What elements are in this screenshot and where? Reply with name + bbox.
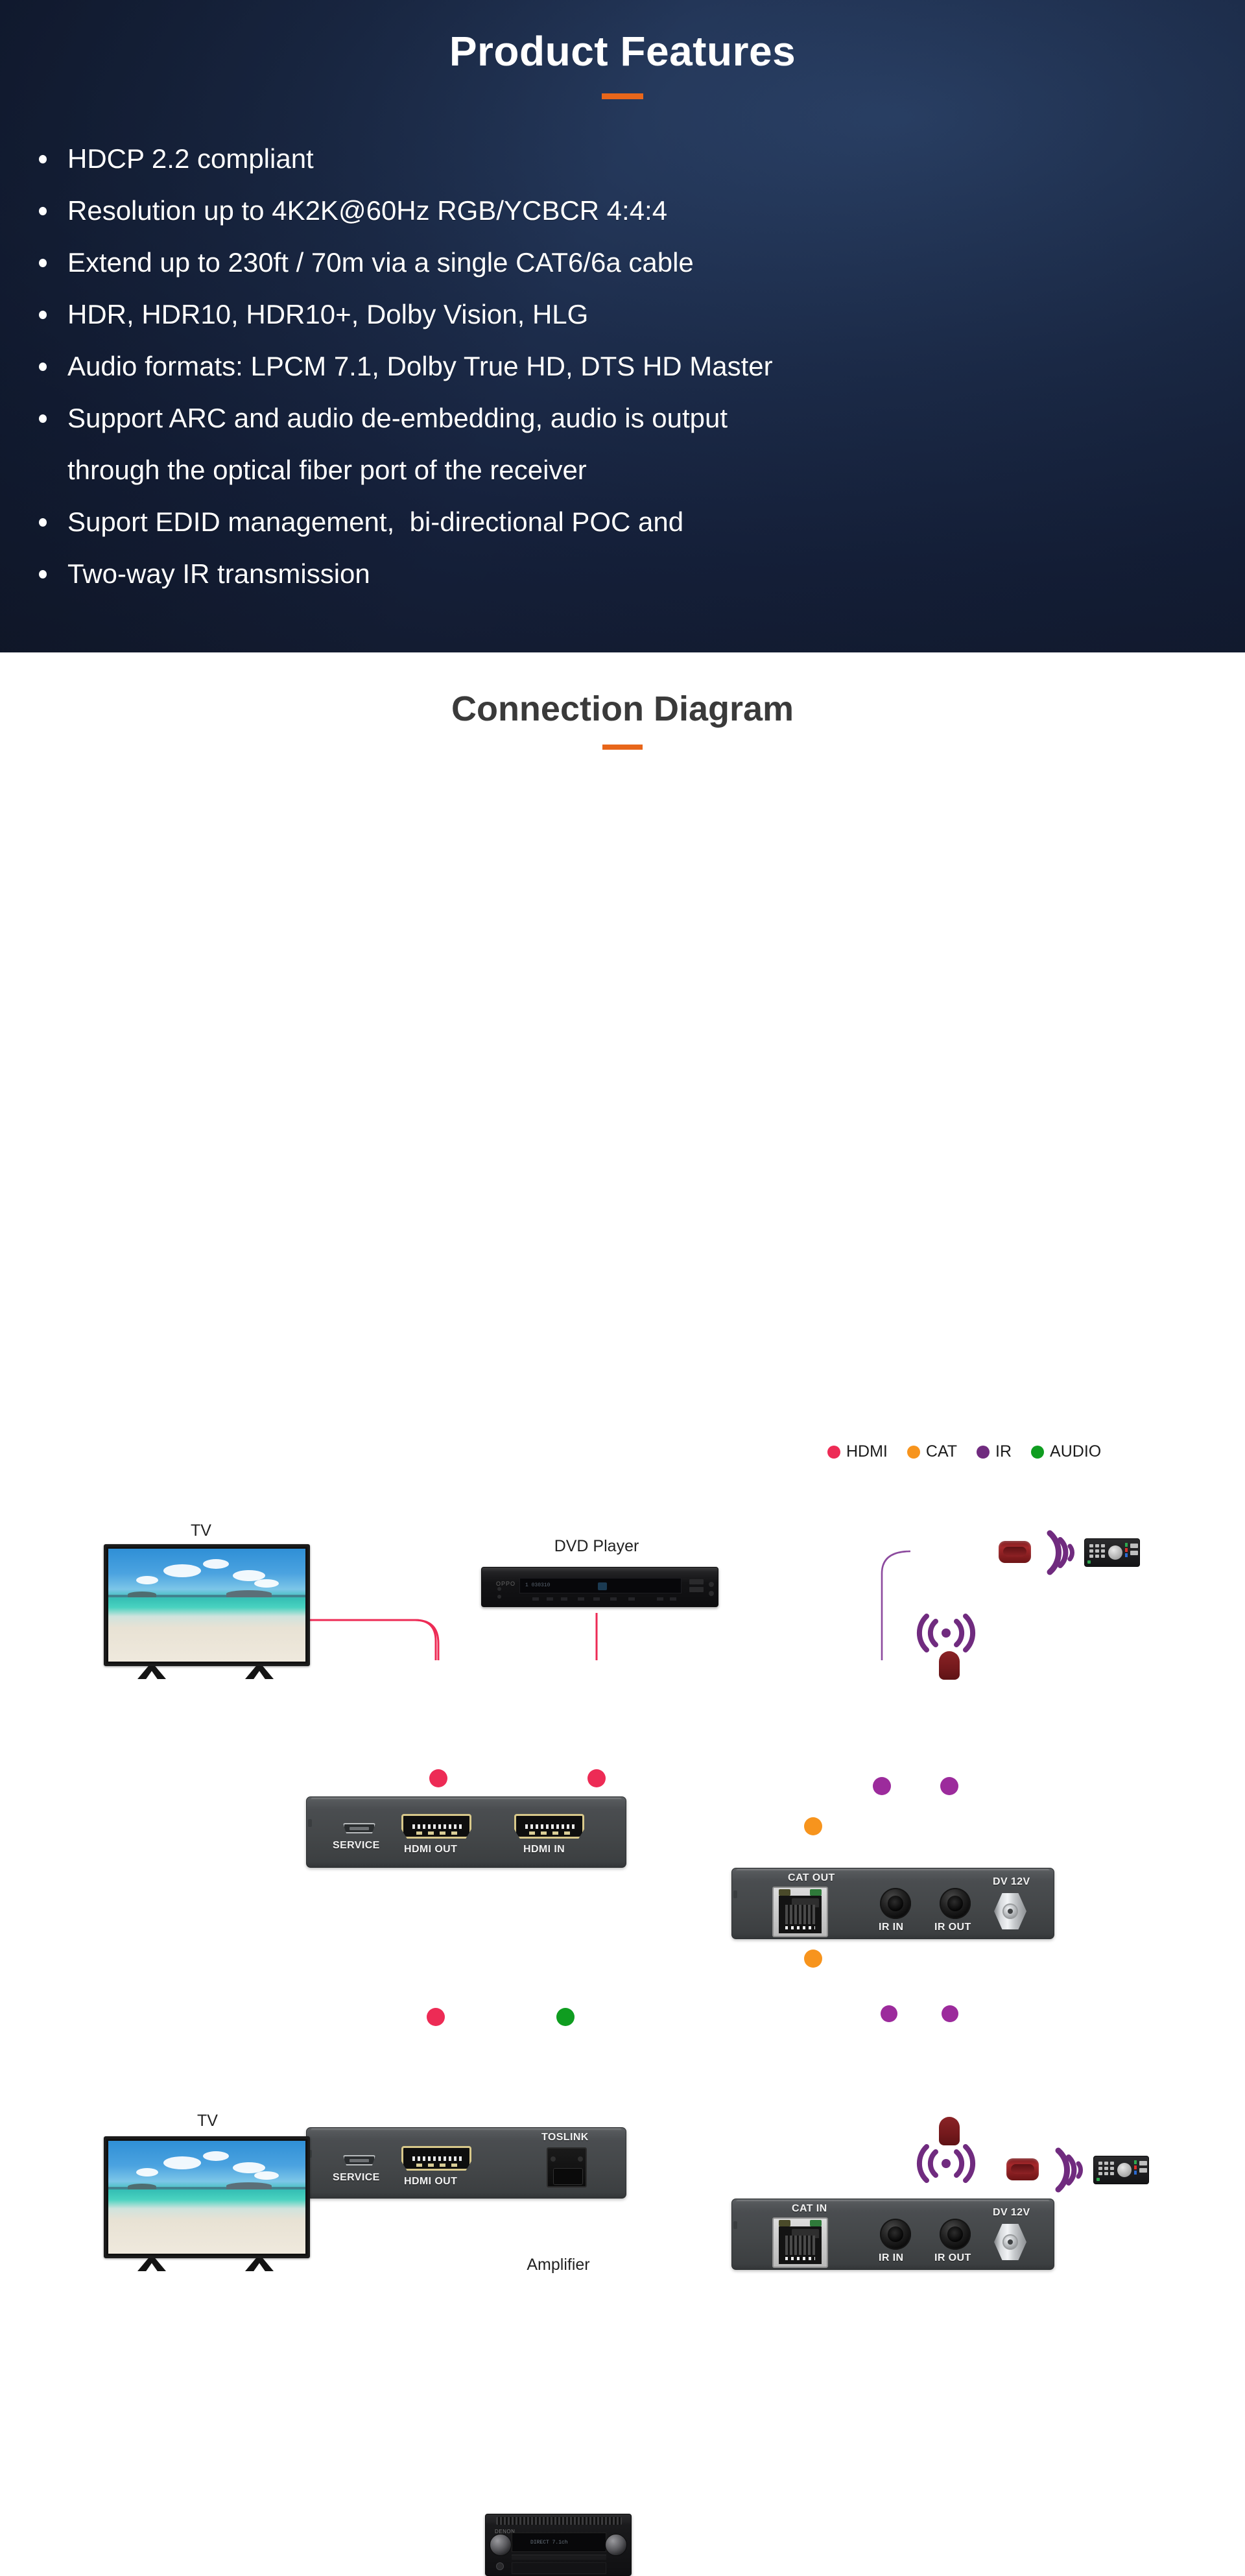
ir-emitter-lens [1003, 1547, 1026, 1556]
transmitter-rear-panel: CAT OUT IR IN IR OUT DV 12V [731, 1868, 1054, 1939]
port-label-hdmi-out: HDMI OUT [404, 2176, 457, 2188]
tv-bottom-label: TV [149, 2112, 266, 2130]
rj45-led-left [779, 2220, 790, 2226]
port-label-ir-out: IR OUT [934, 2252, 971, 2264]
tv-screen-frame [104, 2136, 310, 2258]
hdmi-out-port [401, 1814, 471, 1839]
list-item: HDCP 2.2 compliant [30, 133, 1245, 185]
bullet-icon [39, 414, 47, 423]
remote-dpad-icon [1117, 2163, 1132, 2177]
dvd-player: OPPO 1 030310 [481, 1567, 718, 1607]
amplifier-vents [496, 2517, 622, 2525]
list-item: Extend up to 230ft / 70m via a single CA… [30, 237, 1245, 289]
port-label-hdmi-in: HDMI IN [523, 1844, 565, 1855]
rj45-contacts [785, 1926, 815, 1929]
amplifier-knob-left [490, 2534, 512, 2556]
rj45-pins [785, 2236, 815, 2255]
service-usb-port [343, 2155, 375, 2165]
product-features-panel: Product Features HDCP 2.2 compliant Reso… [0, 0, 1245, 652]
port-label-dv-12v: DV 12V [993, 2207, 1030, 2219]
port-label-cat-out: CAT OUT [788, 1872, 835, 1884]
list-item-continuation: through the optical fiber port of the re… [30, 444, 1245, 496]
rj45-inner [779, 2226, 822, 2264]
ir-wave-icon-bud-bottom [915, 2141, 977, 2182]
connection-dot-cat-in [804, 1950, 822, 1968]
ir-in-jack-hole [888, 2226, 903, 2242]
amplifier-lower-panel [512, 2562, 606, 2574]
dvd-display-text: 1 030310 [525, 1582, 550, 1588]
connection-dot-hdmi-out-tx [429, 1769, 447, 1787]
ir-out-jack-hole [947, 2226, 963, 2242]
dvd-player-label: DVD Player [493, 1537, 700, 1556]
dc-power-jack [994, 1893, 1026, 1929]
hdmi-pins [412, 1824, 463, 1829]
list-item-label: Support ARC and audio de-embedding, audi… [67, 403, 728, 433]
connection-dot-ir-in-tx [873, 1777, 891, 1795]
connection-dot-ir-out-tx [940, 1777, 958, 1795]
hdmi-out-port [401, 2146, 471, 2171]
bullet-icon [39, 518, 47, 527]
tv-screen-frame [104, 1544, 310, 1666]
rj45-inner [779, 1896, 822, 1933]
remote-dpad-icon [1108, 1545, 1122, 1560]
port-label-ir-in: IR IN [879, 1922, 903, 1933]
ir-wave-icon-bottom [1049, 2147, 1088, 2193]
dvd-brand-mark: OPPO [496, 1580, 516, 1587]
transmitter-front-panel: SERVICE HDMI OUT HDMI IN [306, 1796, 626, 1868]
hdmi-pins-lower [529, 1831, 572, 1835]
receiver-rear-panel: CAT IN IR IN IR OUT DV 12V [731, 2199, 1054, 2270]
ir-in-jack [880, 2219, 911, 2250]
page-title: Product Features [0, 0, 1245, 75]
dc-jack-pin [1008, 2239, 1013, 2245]
port-label-cat-in: CAT IN [792, 2203, 827, 2215]
amplifier-label: Amplifier [485, 2256, 632, 2274]
port-label-dv-12v: DV 12V [993, 1876, 1030, 1888]
connection-dot-cat-out [804, 1817, 822, 1835]
ir-in-jack [880, 1888, 911, 1919]
toslink-port [547, 2147, 587, 2188]
amplifier: DENON DIRECT 7.1ch [485, 2514, 632, 2576]
bullet-icon [39, 570, 47, 578]
ir-out-jack-hole [947, 1896, 963, 1911]
list-item: Support ARC and audio de-embedding, audi… [30, 392, 1245, 444]
hdmi-pins-lower [416, 1831, 459, 1835]
usb-port-inner [350, 2159, 369, 2162]
list-item-label: HDR, HDR10, HDR10+, Dolby Vision, HLG [67, 299, 588, 329]
ir-remote-bottom [1093, 2156, 1149, 2184]
toslink-hinge-right [578, 2156, 583, 2162]
tv-stand [104, 2258, 310, 2272]
rj45-pins [785, 1905, 815, 1924]
list-item: Two-way IR transmission [30, 548, 1245, 600]
ir-wave-icon-bud-top [915, 1611, 977, 1651]
dc-jack-pin [1008, 1909, 1013, 1914]
receiver-front-panel: SERVICE HDMI OUT TOSLINK [306, 2127, 626, 2199]
ir-in-jack-hole [888, 1896, 903, 1911]
port-label-toslink: TOSLINK [541, 2132, 589, 2143]
ir-remote-top [1084, 1538, 1140, 1567]
connection-wires [0, 652, 1245, 1660]
list-item-label: HDCP 2.2 compliant [67, 143, 314, 174]
list-item-label: Resolution up to 4K2K@60Hz RGB/YCBCR 4:4… [67, 195, 667, 226]
amplifier-display-text: DIRECT 7.1ch [530, 2540, 568, 2546]
ir-wave-icon-top [1041, 1529, 1080, 1576]
tv-stand [104, 1666, 310, 1680]
list-item-label: Suport EDID management, bi-directional P… [67, 507, 683, 537]
usb-port-inner [350, 1827, 369, 1830]
amplifier-headphone-jack [496, 2562, 504, 2570]
port-label-service: SERVICE [333, 2172, 380, 2184]
connection-dot-toslink [556, 2008, 575, 2026]
service-usb-port [343, 1823, 375, 1833]
toslink-hinge-left [551, 2156, 556, 2162]
port-label-ir-out: IR OUT [934, 1922, 971, 1933]
ir-receiver-bud-top [939, 1651, 960, 1680]
list-item: Suport EDID management, bi-directional P… [30, 496, 1245, 548]
list-item-label: Extend up to 230ft / 70m via a single CA… [67, 247, 694, 278]
port-label-ir-in: IR IN [879, 2252, 903, 2264]
list-item-label: Two-way IR transmission [67, 558, 370, 589]
dvd-front-controls [519, 1597, 682, 1601]
tv-bottom [104, 2136, 310, 2272]
ir-emitter-top [999, 1541, 1031, 1563]
bullet-icon [39, 363, 47, 371]
bullet-icon [39, 311, 47, 319]
tv-top-label: TV [143, 1521, 259, 1540]
rj45-led-right [810, 1889, 822, 1896]
ir-emitter-lens [1011, 2164, 1034, 2174]
dvd-display: 1 030310 [519, 1578, 682, 1593]
dc-power-jack [994, 2224, 1026, 2260]
rj45-led-left [779, 1889, 790, 1896]
amplifier-knob-right [605, 2534, 627, 2556]
bullet-icon [39, 259, 47, 267]
hdmi-pins [525, 1824, 576, 1829]
tv-screen-image [108, 1549, 305, 1662]
hdmi-pins [412, 2156, 463, 2161]
connection-dot-ir-out-rx [942, 2005, 958, 2022]
cat-out-rj45-port [772, 1887, 828, 1937]
rj45-contacts [785, 2257, 815, 2260]
connection-diagram-panel: Connection Diagram HDMI CAT IR AUDIO [0, 652, 1245, 1660]
hdmi-pins-lower [416, 2164, 459, 2167]
list-item: Resolution up to 4K2K@60Hz RGB/YCBCR 4:4… [30, 185, 1245, 237]
list-item: Audio formats: LPCM 7.1, Dolby True HD, … [30, 340, 1245, 392]
ir-emitter-bottom [1006, 2158, 1039, 2180]
rj45-led-right [810, 2220, 822, 2226]
tv-screen-image [108, 2141, 305, 2254]
list-item-label: Audio formats: LPCM 7.1, Dolby True HD, … [67, 351, 773, 381]
hdmi-in-port [514, 1814, 584, 1839]
bullet-icon [39, 155, 47, 163]
title-accent-rule [602, 93, 643, 99]
connection-dot-hdmi-out-rx [427, 2008, 445, 2026]
toslink-door [553, 2168, 583, 2185]
ir-out-jack [940, 1888, 971, 1919]
port-label-service: SERVICE [333, 1840, 380, 1852]
amplifier-button-row [512, 2555, 606, 2560]
amplifier-display: DIRECT 7.1ch [512, 2533, 606, 2552]
feature-list: HDCP 2.2 compliant Resolution up to 4K2K… [0, 133, 1245, 600]
connection-dot-ir-in-rx [881, 2005, 897, 2022]
connection-dot-hdmi-in-tx [587, 1769, 606, 1787]
diagram-stage: TV DVD Pla [0, 652, 1245, 1660]
dvd-disc-icon [598, 1582, 607, 1590]
list-item: HDR, HDR10, HDR10+, Dolby Vision, HLG [30, 289, 1245, 340]
list-item-label: through the optical fiber port of the re… [67, 455, 587, 485]
ir-out-jack [940, 2219, 971, 2250]
port-label-hdmi-out: HDMI OUT [404, 1844, 457, 1855]
cat-in-rj45-port [772, 2217, 828, 2268]
bullet-icon [39, 207, 47, 215]
